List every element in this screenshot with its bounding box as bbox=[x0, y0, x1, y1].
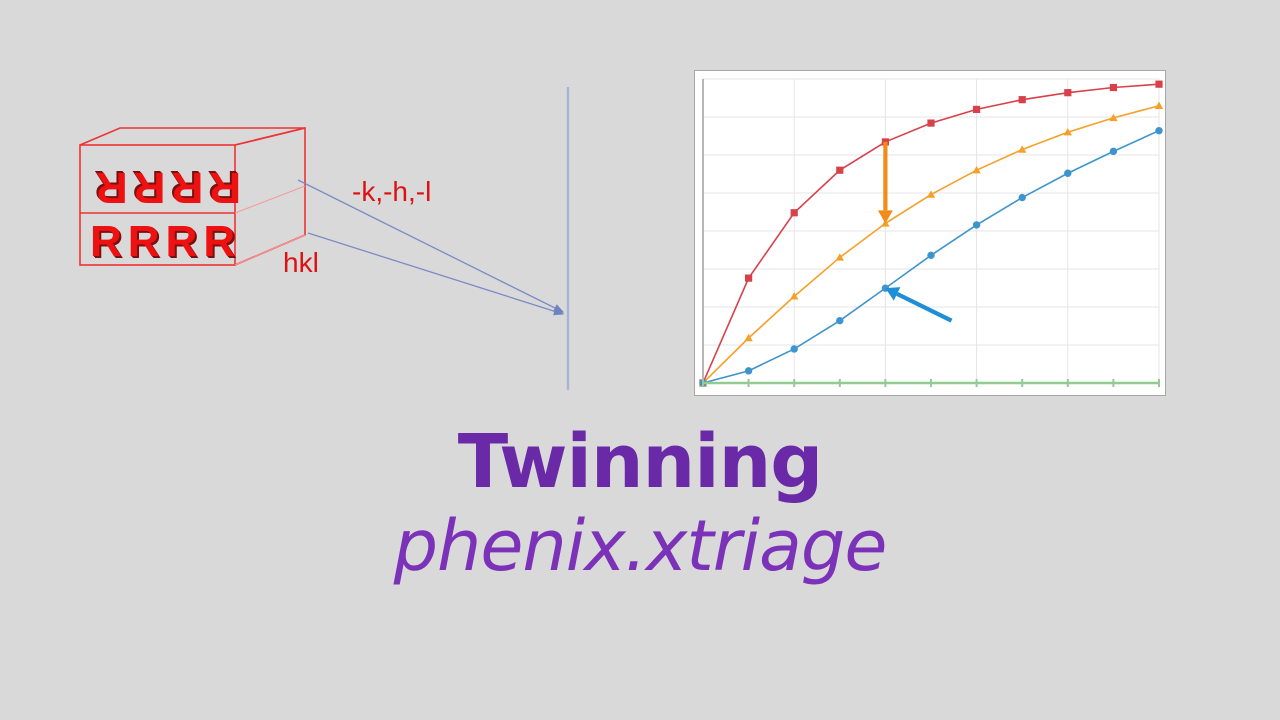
data-marker bbox=[1155, 81, 1162, 88]
data-marker bbox=[745, 367, 752, 374]
slide-canvas: RRRR RRRR -k,-h,-l hkl Twinning bbox=[0, 0, 1280, 720]
data-marker bbox=[836, 167, 843, 174]
series-twinned-partial bbox=[699, 127, 1162, 387]
annotation-head bbox=[878, 210, 893, 223]
data-marker bbox=[973, 106, 980, 113]
data-marker bbox=[973, 221, 980, 228]
data-marker bbox=[836, 317, 843, 324]
data-marker bbox=[927, 119, 934, 126]
series-untwinned-acentric bbox=[699, 81, 1162, 387]
page-subtitle: phenix.xtriage bbox=[0, 508, 1280, 585]
orange-down-arrow bbox=[878, 142, 893, 223]
lattice-row-inverted: RRRR bbox=[90, 165, 241, 209]
data-marker bbox=[1064, 170, 1071, 177]
data-marker bbox=[1019, 96, 1026, 103]
lattice-row-normal: RRRR bbox=[90, 220, 241, 264]
data-marker bbox=[1064, 89, 1071, 96]
series-line bbox=[703, 84, 1159, 383]
data-marker bbox=[927, 252, 934, 259]
data-marker bbox=[791, 209, 798, 216]
data-marker bbox=[745, 275, 752, 282]
chart-plot-svg bbox=[695, 71, 1165, 395]
page-title: Twinning bbox=[0, 424, 1280, 502]
data-marker bbox=[1155, 127, 1162, 134]
divider-arrow-svg bbox=[270, 70, 600, 410]
blue-pointer-arrow bbox=[885, 287, 951, 321]
chart-series-layer bbox=[699, 81, 1163, 387]
pointer-arrow-upper bbox=[298, 180, 563, 312]
data-marker bbox=[791, 345, 798, 352]
data-marker bbox=[1019, 194, 1026, 201]
series-twinned-perfect bbox=[699, 102, 1163, 387]
series-baseline bbox=[703, 379, 1159, 387]
data-marker bbox=[1110, 84, 1117, 91]
intensity-distribution-chart bbox=[694, 70, 1166, 396]
data-marker bbox=[927, 190, 935, 197]
title-block: Twinning phenix.xtriage bbox=[0, 424, 1280, 585]
pointer-arrow-lower bbox=[308, 233, 563, 314]
data-marker bbox=[1155, 102, 1163, 109]
divider-arrow-group bbox=[270, 70, 600, 410]
data-marker bbox=[1110, 148, 1117, 155]
